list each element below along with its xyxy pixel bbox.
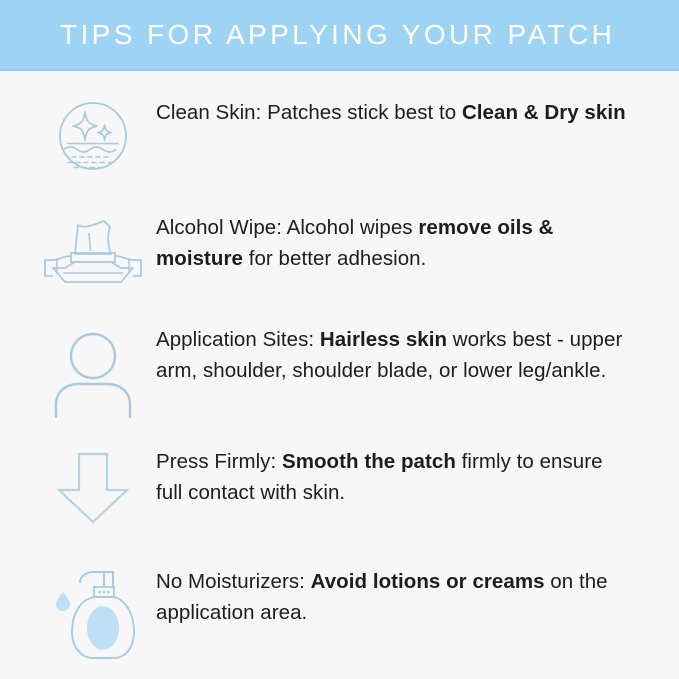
tip-lead: Press Firmly: xyxy=(156,450,282,473)
tips-card: Tips For Applying Your Patch xyxy=(0,0,679,679)
tip-tail: for better adhesion. xyxy=(243,247,426,270)
page-title: Tips For Applying Your Patch xyxy=(0,21,615,49)
list-item: Clean Skin: Patches stick best to Clean … xyxy=(0,95,679,173)
tip-bold: Smooth the patch xyxy=(282,450,456,473)
header-banner: Tips For Applying Your Patch xyxy=(0,0,679,71)
list-item: Application Sites: Hairless skin works b… xyxy=(0,322,679,418)
clean-skin-sparkle-icon xyxy=(30,95,156,173)
lotion-bottle-icon xyxy=(30,564,156,662)
person-torso-icon xyxy=(30,322,156,418)
list-item-text: Alcohol Wipe: Alcohol wipes remove oils … xyxy=(156,210,634,274)
list-item-text: Clean Skin: Patches stick best to Clean … xyxy=(156,95,634,128)
tip-bold: Clean & Dry skin xyxy=(462,101,626,124)
list-item: No Moisturizers: Avoid lotions or creams… xyxy=(0,564,679,662)
list-item-text: No Moisturizers: Avoid lotions or creams… xyxy=(156,564,634,628)
tip-bold: Hairless skin xyxy=(320,328,447,351)
list-item: Alcohol Wipe: Alcohol wipes remove oils … xyxy=(0,210,679,288)
tip-lead: No Moisturizers: xyxy=(156,570,311,593)
list-item: Press Firmly: Smooth the patch firmly to… xyxy=(0,444,679,526)
arrow-down-icon xyxy=(30,444,156,526)
list-item-text: Press Firmly: Smooth the patch firmly to… xyxy=(156,444,634,508)
wipes-pack-icon xyxy=(30,210,156,288)
tip-bold: Avoid lotions or creams xyxy=(311,570,545,593)
tip-lead: Clean Skin: Patches stick best to xyxy=(156,101,462,124)
tips-list: Clean Skin: Patches stick best to Clean … xyxy=(0,77,679,662)
tip-lead: Application Sites: xyxy=(156,328,320,351)
list-item-text: Application Sites: Hairless skin works b… xyxy=(156,322,634,386)
tip-lead: Alcohol Wipe: Alcohol wipes xyxy=(156,216,418,239)
